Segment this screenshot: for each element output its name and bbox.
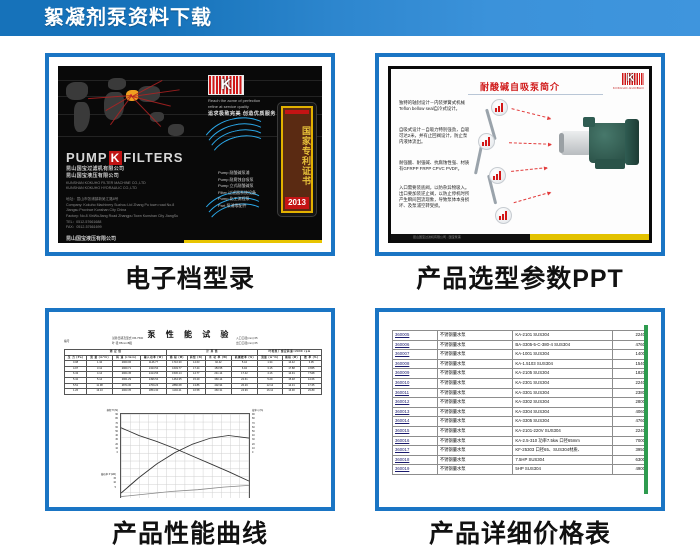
award-certificate-graphic: 国家专利证书 2013 — [277, 102, 317, 217]
logo-letter-k: K — [218, 77, 234, 93]
price-cell-spec: KA-2301 SUS304 — [513, 378, 612, 388]
bar-chart-icon — [478, 133, 495, 150]
pump-list-item: Part 泵浦零配件 — [218, 203, 256, 210]
table-cell: 1.26 — [65, 389, 87, 395]
table-cell: 2903.35 — [113, 389, 141, 395]
price-cell-name: 不锈钢量水泵 — [437, 340, 513, 350]
table-cell: 16.90 — [282, 389, 301, 395]
price-cell-amt: 4760 — [612, 417, 647, 427]
table-row: 360008不锈钢量水泵KA-1.5103 SUS3041540 — [393, 359, 648, 369]
price-cell-code: 360013 — [393, 407, 438, 417]
price-cell-code: 360010 — [393, 378, 438, 388]
slide-footer-note: 昆山国宝过滤机有限公司 · 国宝泵浦 — [413, 234, 461, 240]
company-name-cn-2: 昆山国宝液压有限公司 — [66, 173, 119, 180]
price-cell-amt: 4760 — [612, 340, 647, 350]
price-cell-name: 不锈钢量水泵 — [437, 398, 513, 408]
price-cell-name: 不锈钢量水泵 — [437, 407, 513, 417]
left-axis-labels: 扬程 H (M) 908070 605040 3020100 — [98, 409, 118, 455]
page-title: 絮凝剂泵资料下载 — [44, 6, 212, 30]
bar-chart-icon — [489, 167, 506, 184]
price-cell-spec: KF-25303 口径65、SUS304材质、 — [513, 446, 612, 456]
table-row: 1.2613.102903.351854.301194.2116.58460.3… — [65, 389, 322, 395]
catalog-cover-art: PUMPKFILTERS 昆山国宝过滤机有限公司 昆山国宝液压有限公司 KUNS… — [58, 66, 322, 243]
slide-bullet: 入口需要装底阀，以防杂异物吸入。出口要加装逆止阀，以防止停机时所产生瞬间回流现象… — [399, 185, 471, 209]
price-cell-name: 不锈钢量水泵 — [437, 378, 513, 388]
price-cell-spec: KA-2105 SUS304 — [513, 369, 612, 379]
award-year: 2013 — [285, 197, 309, 209]
table-row: 360006不锈钢量水泵BA-3305-5-C-380-4 SUS3044760 — [393, 340, 648, 350]
price-cell-amt: 4060 — [612, 407, 647, 417]
price-cell-name: 不锈钢量水泵 — [437, 350, 513, 360]
flow-arrow-icon — [514, 192, 551, 203]
table-row: 360009不锈钢量水泵KA-2105 SUS3041820 — [393, 369, 648, 379]
address-en-2: Jiangsu Province Kunshan City China — [66, 208, 126, 213]
price-cell-amt: 1400 — [612, 350, 647, 360]
price-cell-amt: 4900 — [612, 465, 647, 475]
process-chain-graphic — [477, 97, 517, 229]
download-card-grid: PUMPKFILTERS 昆山国宝过滤机有限公司 昆山国宝液压有限公司 KUNS… — [0, 40, 700, 552]
award-title: 国家专利证书 — [283, 117, 311, 195]
table-cell: 16.12 — [258, 389, 283, 395]
kokuho-logo-icon: K — [622, 73, 644, 85]
table-cell: 1194.21 — [167, 389, 187, 395]
price-cell-spec: KA-1.5103 SUS304 — [513, 359, 612, 369]
world-map-graphic — [64, 72, 192, 146]
chart-title: 泵 性 能 试 验 — [64, 329, 316, 340]
price-cell-spec: BA-3305-5-C-380-4 SUS304 — [513, 340, 612, 350]
table-cell: 16.58 — [187, 389, 205, 395]
slogan-cn: 追求极致完美 创造优质服务 — [208, 110, 276, 117]
catalog-preview: PUMPKFILTERS 昆山国宝过滤机有限公司 昆山国宝液压有限公司 KUNS… — [58, 66, 322, 243]
download-card-catalog[interactable]: PUMPKFILTERS 昆山国宝过滤机有限公司 昆山国宝液压有限公司 KUNS… — [45, 53, 335, 294]
table-cell: 23.89 — [301, 389, 322, 395]
meta-mid-2: 叶 径 85mm/8极 — [112, 341, 132, 345]
right-axis-labels: 效率 η (%) 908070 605040 3020100 — [252, 409, 276, 455]
table-row: 360015不锈钢量水泵KA-2101-220V SUS3042240 — [393, 426, 648, 436]
price-cell-name: 不锈钢量水泵 — [437, 359, 513, 369]
performance-chart-art: 泵 性 能 试 验 编号 试验日期及型式 KB-7500 叶 径 85mm/8极… — [58, 321, 322, 498]
factory-en: Factory: No.8 XinWuJiang Road Zhangpu To… — [66, 214, 178, 219]
meta-left: 编号 — [64, 339, 70, 343]
price-cell-amt: 2240 — [612, 426, 647, 436]
price-cell-code: 360008 — [393, 359, 438, 369]
price-cell-code: 360018 — [393, 455, 438, 465]
caption-catalog: 电子档型录 — [45, 264, 335, 294]
download-card-curve[interactable]: 泵 性 能 试 验 编号 试验日期及型式 KB-7500 叶 径 85mm/8极… — [45, 308, 335, 549]
price-cell-spec: KA-3302 SUS304 — [513, 398, 612, 408]
scrollbar-thumb[interactable] — [644, 325, 648, 494]
price-cell-code: 360012 — [393, 398, 438, 408]
catalog-thumbnail-frame[interactable]: PUMPKFILTERS 昆山国宝过滤机有限公司 昆山国宝液压有限公司 KUNS… — [45, 53, 335, 256]
price-cell-spec: 7.5HP SUS304 — [513, 455, 612, 465]
download-card-ppt[interactable]: 耐酸碱自吸泵简介 K KOKUHO-GUOBAO 独特的轴封设计－内装弹簧式机械… — [375, 53, 665, 294]
table-row: 360007不锈钢量水泵KA-1001 SUS3041400 — [393, 350, 648, 360]
price-cell-spec: KA-2101 SUS304 — [513, 331, 612, 341]
price-table: 360005不锈钢量水泵KA-2101 SUS3042240360006不锈钢量… — [392, 330, 648, 475]
brand-right: FILTERS — [123, 150, 183, 165]
title-underline — [468, 94, 602, 95]
caption-price: 产品详细价格表 — [375, 519, 665, 549]
price-cell-spec: KA-2101-220V SUS304 — [513, 426, 612, 436]
brand-logotype: PUMPKFILTERS — [66, 150, 183, 165]
slide-title: 耐酸碱自吸泵简介 — [391, 80, 649, 93]
price-cell-spec: KA-2.5-310 功率7.5kw 口径65mm — [513, 436, 612, 446]
company-name-en-2: KUNSHAN KOKUHO HYDRAULIC CO.,LTD — [66, 186, 137, 191]
price-cell-code: 360017 — [393, 446, 438, 456]
price-cell-amt: 1820 — [612, 369, 647, 379]
price-cell-name: 不锈钢量水泵 — [437, 369, 513, 379]
price-table-art: 360005不锈钢量水泵KA-2101 SUS3042240360006不锈钢量… — [388, 321, 652, 498]
flow-arrow-icon — [511, 108, 550, 119]
slide-bullet: 耐强酸、耐强碱、抗腐蚀性强、材质有GFRPP FRPP CPVC PVDF。 — [399, 160, 471, 172]
price-cell-name: 不锈钢量水泵 — [437, 426, 513, 436]
company-name-cn-1: 昆山国宝过滤机有限公司 — [66, 166, 124, 173]
column-header: 机械效率 (%) — [231, 355, 257, 361]
table-cell: 13.10 — [87, 389, 113, 395]
price-cell-code: 360005 — [393, 331, 438, 341]
price-cell-spec: KA-3304 SUS304 — [513, 407, 612, 417]
ppt-thumbnail-frame[interactable]: 耐酸碱自吸泵简介 K KOKUHO-GUOBAO 独特的轴封设计－内装弹簧式机械… — [375, 53, 665, 256]
price-cell-code: 360007 — [393, 350, 438, 360]
price-cell-name: 不锈钢量水泵 — [437, 436, 513, 446]
price-cell-spec: KA-3301 SUS304 — [513, 388, 612, 398]
price-cell-spec: KA-3305 SUS304 — [513, 417, 612, 427]
table-row: 360011不锈钢量水泵KA-3301 SUS3042380 — [393, 388, 648, 398]
slide-bullet: 独特的轴封设计－内装弹簧式机械Teflon bellow seal自冷式设计。 — [399, 100, 471, 112]
address-cn: 地址：昆山市张浦镇新吴江路8号 — [66, 197, 118, 202]
price-cell-amt: 2380 — [612, 388, 647, 398]
price-cell-name: 不锈钢量水泵 — [437, 331, 513, 341]
price-cell-name: 不锈钢量水泵 — [437, 465, 513, 475]
column-header: 流 量 (m³/h) — [87, 355, 113, 361]
ppt-preview: 耐酸碱自吸泵简介 K KOKUHO-GUOBAO 独特的轴封设计－内装弹簧式机械… — [388, 66, 652, 243]
caption-curve: 产品性能曲线 — [45, 519, 335, 549]
price-cell-name: 不锈钢量水泵 — [437, 446, 513, 456]
curve-plot-area — [120, 413, 250, 498]
slide-bullet: 自吸式设计－自吸力特别强劲，自吸可达2米，并有止回阀设计，防止泵内液体流出。 — [399, 127, 471, 145]
table-cell: 1854.30 — [140, 389, 167, 395]
meta-right-1: 入口口径(mm) 65 — [236, 336, 258, 340]
page-header: 絮凝剂泵资料下载 — [0, 0, 700, 36]
price-cell-name: 不锈钢量水泵 — [437, 455, 513, 465]
price-cell-name: 不锈钢量水泵 — [437, 388, 513, 398]
price-cell-name: 不锈钢量水泵 — [437, 417, 513, 427]
cover-yellow-bar — [184, 240, 322, 243]
pump-list-item: Pump 耐酸碱泵浦 — [218, 170, 256, 177]
table-row: 360010不锈钢量水泵KA-2301 SUS3042240 — [393, 378, 648, 388]
price-preview: 360005不锈钢量水泵KA-2101 SUS3042240360006不锈钢量… — [388, 321, 652, 498]
meta-mid-1: 试验日期及型式 KB-7500 — [112, 336, 143, 340]
fax-line: FAX：0512-57661699 — [66, 225, 102, 230]
table-row: 360017不锈钢量水泵KF-25303 口径65、SUS304材质、3950 — [393, 446, 648, 456]
pump-product-list: Pump 耐酸碱泵浦 Pump 耐腐蚀自吸泵 Pump 立式耐酸碱泵 Filte… — [218, 170, 256, 210]
left-axis2-labels: 轴功率 P (kW) 15105 — [76, 473, 116, 490]
curve-preview: 泵 性 能 试 验 编号 试验日期及型式 KB-7500 叶 径 85mm/8极… — [58, 321, 322, 498]
price-cell-amt: 2240 — [612, 331, 647, 341]
brand-left: PUMP — [66, 150, 108, 165]
column-header: 压 力 (Pa) — [65, 355, 87, 361]
caption-ppt: 产品选型参数PPT — [375, 264, 665, 294]
curve-thumbnail-frame[interactable]: 泵 性 能 试 验 编号 试验日期及型式 KB-7500 叶 径 85mm/8极… — [45, 308, 335, 511]
price-cell-amt: 1540 — [612, 359, 647, 369]
download-card-price[interactable]: 360005不锈钢量水泵KA-2101 SUS3042240360006不锈钢量… — [375, 308, 665, 549]
price-cell-code: 360009 — [393, 369, 438, 379]
table-row: 360013不锈钢量水泵KA-3304 SUS3044060 — [393, 407, 648, 417]
price-cell-amt: 3950 — [612, 446, 647, 456]
price-cell-code: 360006 — [393, 340, 438, 350]
table-row: 360012不锈钢量水泵KA-3302 SUS3042800 — [393, 398, 648, 408]
brand-k-mark: K — [109, 151, 123, 165]
table-row: 360019不锈钢量水泵5HP SUS3044900 — [393, 465, 648, 475]
price-cell-code: 360015 — [393, 426, 438, 436]
table-cell: 24.99 — [231, 389, 257, 395]
meta-right-2: 出口口径(mm) 65 — [236, 341, 258, 345]
price-cell-amt: 2800 — [612, 398, 647, 408]
price-cell-spec: 5HP SUS304 — [513, 465, 612, 475]
price-cell-code: 360019 — [393, 465, 438, 475]
table-cell: 460.31 — [205, 389, 231, 395]
price-cell-amt: 6300 — [612, 455, 647, 465]
column-header: 流量 (m³/h) — [258, 355, 283, 361]
table-row: 360018不锈钢量水泵7.5HP SUS3046300 — [393, 455, 648, 465]
bar-chart-icon — [491, 99, 508, 116]
price-thumbnail-frame[interactable]: 360005不锈钢量水泵KA-2101 SUS3042240360006不锈钢量… — [375, 308, 665, 511]
table-row: 360005不锈钢量水泵KA-2101 SUS3042240 — [393, 331, 648, 341]
price-cell-code: 360016 — [393, 436, 438, 446]
price-cell-amt: 7000 — [612, 436, 647, 446]
price-cell-spec: KA-1001 SUS304 — [513, 350, 612, 360]
price-cell-code: 360014 — [393, 417, 438, 427]
logo-subtext: KOKUHO-GUOBAO — [613, 86, 644, 90]
price-cell-code: 360011 — [393, 388, 438, 398]
bar-chart-icon — [495, 207, 512, 224]
pump-product-photo — [559, 113, 643, 173]
measurement-table: 测 定 值 计 算 值 叶轮原厂规定转速=2900 rpm 压 力 (Pa)流 … — [64, 349, 322, 395]
logo-letter-k: K — [627, 73, 634, 85]
page-root: 絮凝剂泵资料下载 — [0, 0, 700, 552]
table-row: 360014不锈钢量水泵KA-3305 SUS3044760 — [393, 417, 648, 427]
price-cell-amt: 2240 — [612, 378, 647, 388]
table-row: 360016不锈钢量水泵KA-2.5-310 功率7.5kw 口径65mm700… — [393, 436, 648, 446]
curve-series-svg — [121, 414, 249, 498]
pump-list-item: Pump 立式耐酸碱泵 — [218, 183, 256, 190]
column-header: 水 功 率 (W) — [205, 355, 231, 361]
column-header: 转 速 (r/min) — [113, 355, 141, 361]
ppt-slide-art: 耐酸碱自吸泵简介 K KOKUHO-GUOBAO 独特的轴封设计－内装弹簧式机械… — [388, 66, 652, 243]
pump-list-item: Pump 化工流程泵 — [218, 196, 256, 203]
kokuho-logo-icon: K — [208, 75, 244, 95]
branch-title-1: 昆山国宝液压有限公司 — [66, 236, 116, 243]
column-header: 输入功率 (W) — [140, 355, 167, 361]
slide-footer-bar: 昆山国宝过滤机有限公司 · 国宝泵浦 — [391, 234, 649, 240]
